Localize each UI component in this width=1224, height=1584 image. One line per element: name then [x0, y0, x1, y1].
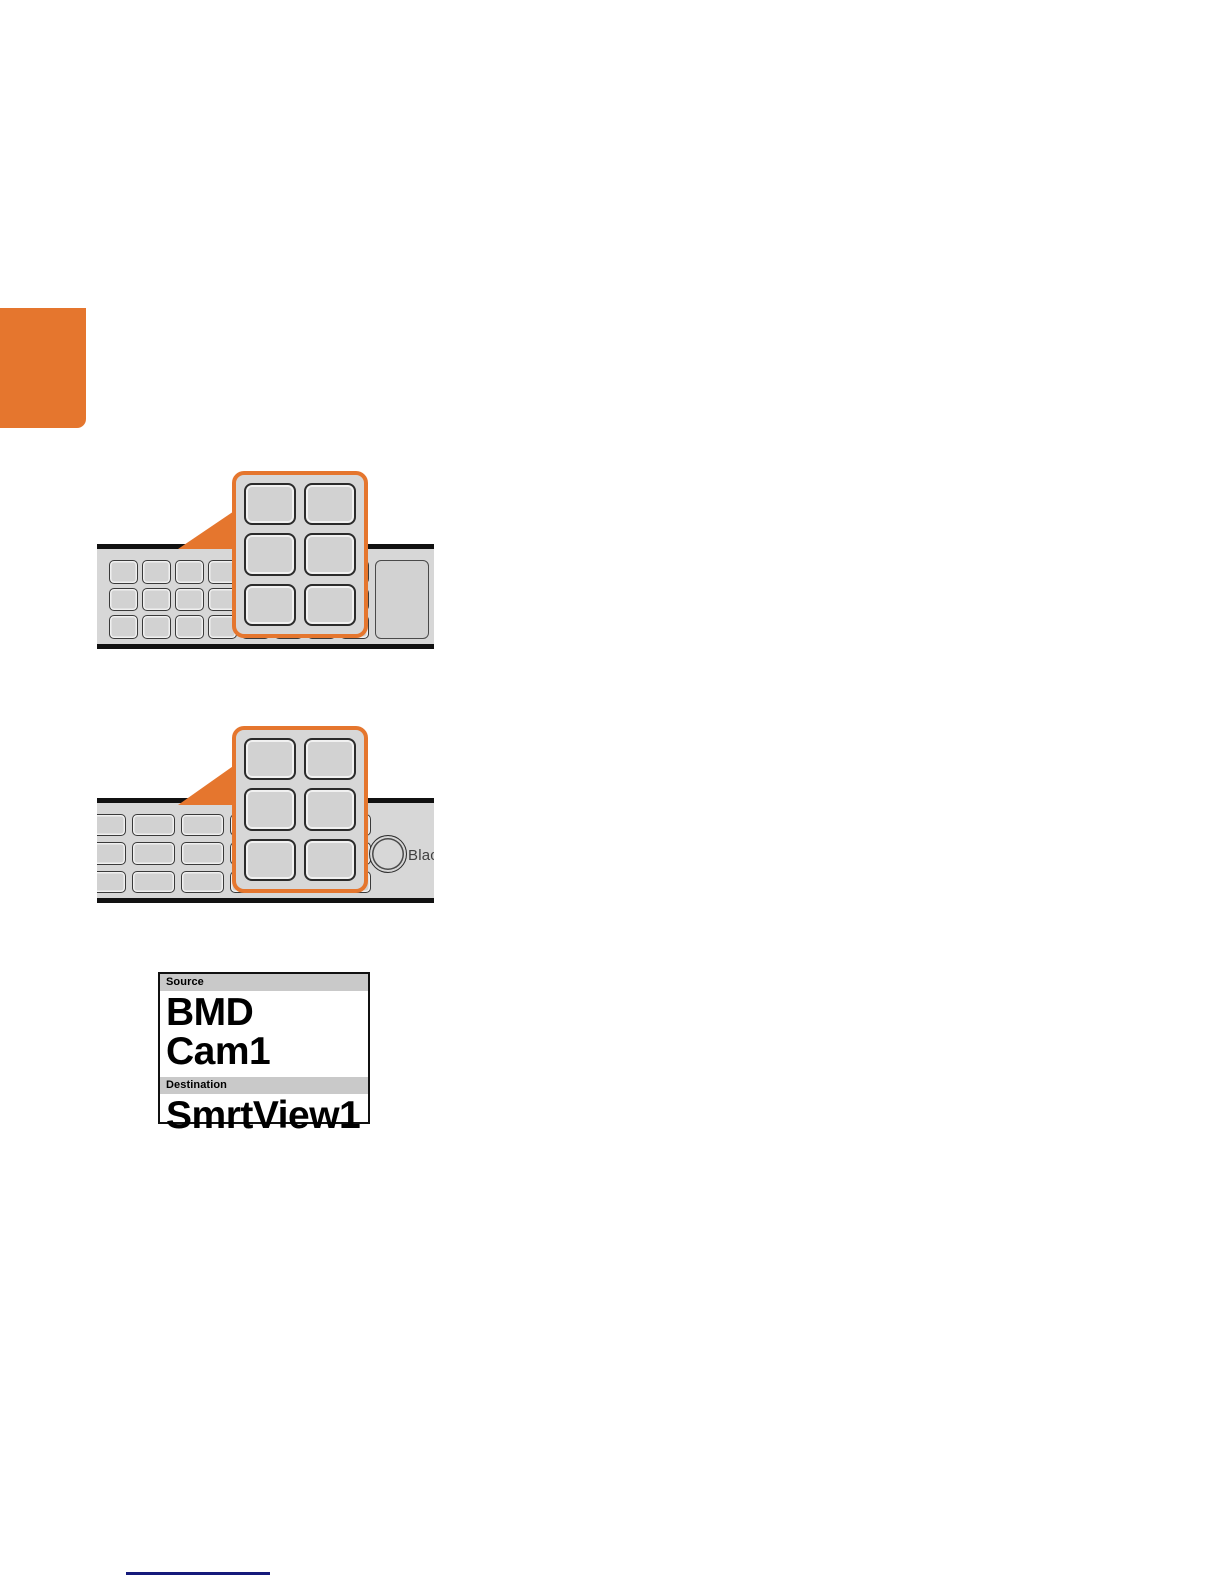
- callout-button-grid-1: [244, 483, 356, 626]
- source-label: Source: [160, 974, 368, 991]
- panel-button[interactable]: [142, 588, 171, 612]
- panel-button[interactable]: [307, 560, 336, 584]
- panel-button[interactable]: [97, 814, 126, 836]
- panel-button[interactable]: [230, 842, 273, 864]
- panel-button[interactable]: [142, 560, 171, 584]
- panel-button[interactable]: [181, 842, 224, 864]
- callout-button[interactable]: [244, 584, 296, 626]
- callout-button[interactable]: [304, 738, 356, 780]
- panel-button[interactable]: [328, 842, 371, 864]
- videohub-front-panel-1: [97, 544, 434, 649]
- panel-button[interactable]: [97, 842, 126, 864]
- brand-label: Black: [408, 847, 434, 864]
- panel-button[interactable]: [328, 871, 371, 893]
- callout-button[interactable]: [244, 483, 296, 525]
- callout-box-2: [232, 726, 368, 893]
- panel-button[interactable]: [142, 615, 171, 639]
- destination-label: Destination: [160, 1077, 368, 1094]
- callout-button[interactable]: [304, 584, 356, 626]
- panel-button[interactable]: [279, 871, 322, 893]
- panel-button[interactable]: [307, 615, 336, 639]
- chapter-color-tab: [0, 308, 86, 428]
- panel-button[interactable]: [279, 814, 322, 836]
- rotary-knob[interactable]: [369, 835, 407, 873]
- panel-button[interactable]: [274, 560, 303, 584]
- panel-button[interactable]: [241, 615, 270, 639]
- callout-button[interactable]: [304, 788, 356, 830]
- panel-button[interactable]: [175, 560, 204, 584]
- panel-button[interactable]: [241, 588, 270, 612]
- panel-button[interactable]: [181, 814, 224, 836]
- panel-button-grid-1: [109, 560, 369, 639]
- callout-pointer-1: [176, 503, 246, 551]
- panel-button[interactable]: [132, 871, 175, 893]
- panel-button[interactable]: [279, 842, 322, 864]
- callout-button[interactable]: [304, 839, 356, 881]
- callout-button[interactable]: [244, 788, 296, 830]
- panel-button[interactable]: [241, 560, 270, 584]
- panel-button[interactable]: [340, 588, 369, 612]
- callout-button[interactable]: [304, 533, 356, 575]
- panel-button[interactable]: [109, 560, 138, 584]
- panel-button[interactable]: [175, 588, 204, 612]
- callout-pointer-2: [176, 757, 246, 807]
- panel-button[interactable]: [340, 615, 369, 639]
- panel-button[interactable]: [274, 588, 303, 612]
- panel-button[interactable]: [132, 842, 175, 864]
- panel-button-grid-2: [97, 814, 371, 893]
- source-value: BMD Cam1: [160, 991, 368, 1077]
- panel-button[interactable]: [132, 814, 175, 836]
- callout-button[interactable]: [244, 839, 296, 881]
- panel-button[interactable]: [97, 871, 126, 893]
- callout-box-1: [232, 471, 368, 638]
- panel-button[interactable]: [307, 588, 336, 612]
- figure-videohub-panel-1: [0, 0, 1224, 1584]
- panel-lcd-screen-1: [375, 560, 429, 639]
- panel-button[interactable]: [208, 560, 237, 584]
- source-destination-lcd: Source BMD Cam1 Destination SmrtView1: [158, 972, 370, 1124]
- panel-button[interactable]: [109, 615, 138, 639]
- callout-button[interactable]: [244, 738, 296, 780]
- panel-button[interactable]: [274, 615, 303, 639]
- panel-button[interactable]: [230, 814, 273, 836]
- panel-button[interactable]: [208, 615, 237, 639]
- panel-button[interactable]: [230, 871, 273, 893]
- callout-button-grid-2: [244, 738, 356, 881]
- destination-value: SmrtView1: [160, 1094, 368, 1141]
- videohub-front-panel-2: Black: [97, 798, 434, 903]
- callout-button[interactable]: [244, 533, 296, 575]
- callout-button[interactable]: [304, 483, 356, 525]
- footer-rule: [126, 1572, 270, 1575]
- panel-button[interactable]: [109, 588, 138, 612]
- panel-button[interactable]: [208, 588, 237, 612]
- panel-button[interactable]: [340, 560, 369, 584]
- figure-videohub-panel-2: Black: [0, 0, 1224, 1584]
- panel-button[interactable]: [175, 615, 204, 639]
- panel-button[interactable]: [181, 871, 224, 893]
- panel-button[interactable]: [328, 814, 371, 836]
